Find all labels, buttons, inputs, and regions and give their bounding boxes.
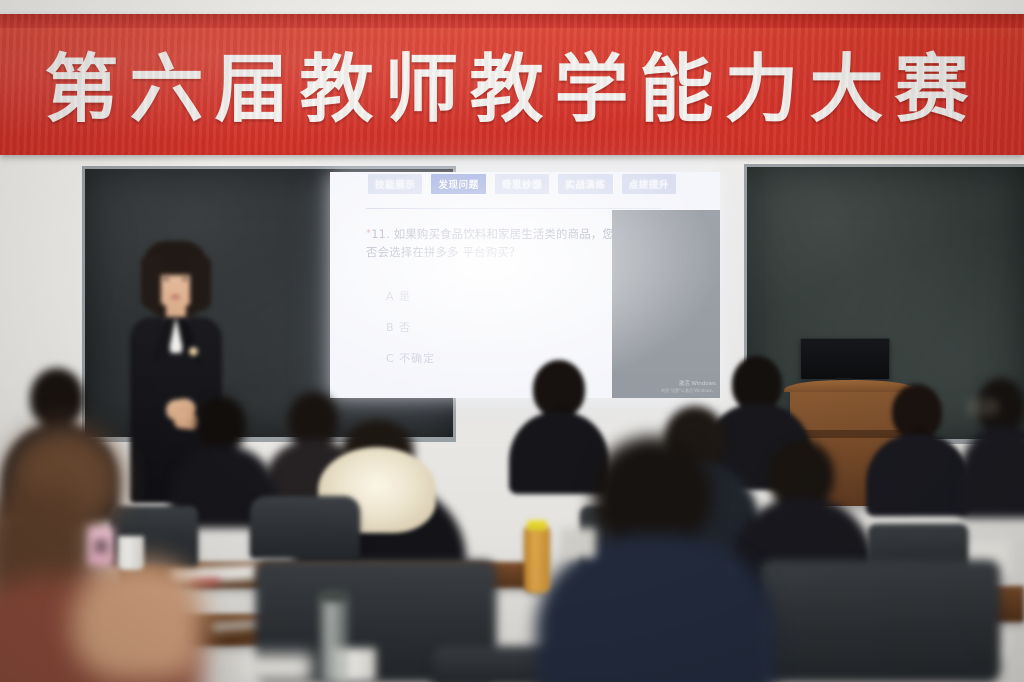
audience-member-foreground-navy	[556, 436, 756, 682]
banner-title: 第六届教师教学能力大赛	[0, 29, 1024, 136]
tab-guidance-improve[interactable]: 点拨提升	[622, 174, 676, 194]
tab-practice-drill[interactable]: 实战演练	[558, 174, 612, 194]
water-bottle	[524, 527, 550, 593]
slide-tab-bar: 技能展示 发现问题 奇思妙想 实战演练 点拨提升	[330, 174, 720, 194]
tab-discover-problem[interactable]: 发现问题	[431, 174, 485, 194]
foreground-hand	[72, 560, 202, 680]
audience-member-glasses-far-right	[965, 378, 1024, 518]
name-card-text: 英	[93, 536, 108, 557]
survey-option-c[interactable]: C 不确定	[386, 350, 435, 366]
presenter-hair-right	[190, 255, 211, 311]
slide-divider	[366, 208, 662, 209]
podium-monitor	[800, 338, 890, 380]
audience-member-ponytail-right	[872, 384, 964, 514]
audience-shoulders	[866, 434, 970, 516]
presenter-mouth	[171, 295, 180, 299]
chair-back-center	[250, 496, 360, 558]
tab-skill-display[interactable]: 技能展示	[368, 174, 422, 194]
name-card: 英	[88, 527, 114, 565]
presenter-hair-left	[141, 255, 161, 309]
tab-creative-ideas[interactable]: 奇思妙想	[495, 174, 549, 194]
glasses-icon	[969, 400, 997, 414]
survey-question-text: 11. 如果购买食品饮料和家居生活类的商品，您是否会选择在拼多多 平台购买？	[366, 227, 626, 259]
windows-activation-watermark: 激活 Windows 转到"设置"以激活 Windows。	[661, 381, 716, 393]
classroom-photo: 第六届教师教学能力大赛 技能展示 发现问题 奇思妙想 实战演练 点拨提升 *11…	[0, 0, 1024, 682]
competition-banner: 第六届教师教学能力大赛	[0, 14, 1024, 155]
glass-bottle	[320, 596, 348, 682]
watermark-line-2: 转到"设置"以激活 Windows。	[661, 388, 716, 393]
bottle-cap-yellow	[527, 520, 547, 531]
watermark-line-1: 激活 Windows	[661, 381, 716, 388]
paper-cup-left	[118, 536, 144, 570]
survey-option-b[interactable]: B 否	[386, 319, 411, 335]
banner-top-edge	[0, 14, 1024, 28]
survey-option-a[interactable]: A 是	[386, 288, 411, 304]
survey-question: *11. 如果购买食品饮料和家居生活类的商品，您是否会选择在拼多多 平台购买？	[366, 226, 634, 261]
chair-front-right	[760, 560, 1000, 682]
audience-shoulders	[959, 426, 1024, 518]
glass-bottle-cap	[320, 591, 348, 601]
presenter-brooch	[189, 347, 198, 356]
laptop-edge	[560, 528, 596, 558]
paper-stack-foreground	[242, 654, 312, 682]
